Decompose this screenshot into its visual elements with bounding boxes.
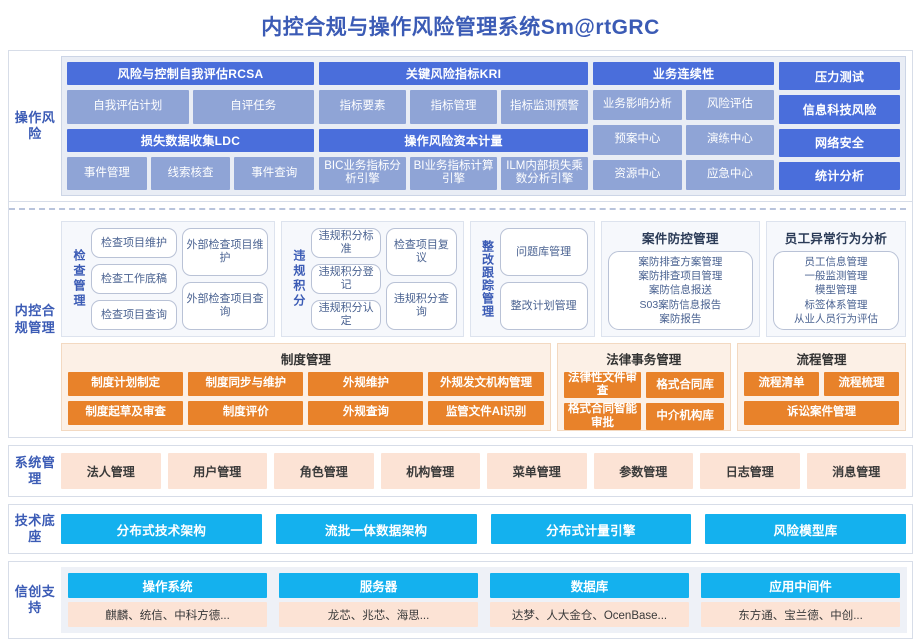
xinchuang-vendors: 达梦、人大金仓、OcenBase...: [490, 602, 689, 627]
policy-item[interactable]: 外规发文机构管理: [428, 372, 543, 396]
tech-item[interactable]: 分布式计量引擎: [491, 514, 692, 544]
process-item[interactable]: 诉讼案件管理: [744, 401, 899, 425]
system-management-row: 法人管理 用户管理 角色管理 机构管理 菜单管理 参数管理 日志管理 消息管理: [61, 451, 906, 491]
group-inspection-management: 检查管理 检查项目维护 检查工作底稿 检查项目查询 外部检查项目维护 外部检查项…: [61, 221, 275, 337]
op-column-rcsa-ldc: 风险与控制自我评估RCSA 自我评估计划 自评任务 损失数据收集LDC 事件管理…: [67, 62, 314, 190]
op-group-title-capital[interactable]: 操作风险资本计量: [319, 129, 588, 152]
op-column-business-continuity: 业务连续性 业务影响分析 风险评估 预案中心 演练中心 资源中心 应急中心: [593, 62, 774, 190]
ic-item-list[interactable]: 员工信息管理 一般监测管理 模型管理 标签体系管理 从业人员行为评估: [773, 251, 899, 330]
section-internal-control: 内控合规管理 检查管理 检查项目维护 检查工作底稿 检查项目查询 外部检查项目维…: [8, 202, 913, 438]
section-label-xinchuang: 信创支持: [9, 562, 61, 638]
op-item[interactable]: 指标管理: [410, 90, 497, 124]
ic-item: 标签体系管理: [804, 298, 867, 312]
op-group-rcsa: 风险与控制自我评估RCSA 自我评估计划 自评任务: [67, 62, 314, 124]
op-item[interactable]: 演练中心: [686, 125, 775, 155]
group-label: 整改跟踪管理: [477, 228, 500, 330]
policy-item[interactable]: 外规维护: [308, 372, 423, 396]
xinchuang-head[interactable]: 数据库: [490, 573, 689, 598]
ic-item[interactable]: 外部检查项目维护: [182, 228, 268, 276]
group-title: 法律事务管理: [564, 349, 724, 368]
tech-item[interactable]: 风险模型库: [705, 514, 906, 544]
ic-item[interactable]: 检查工作底稿: [91, 264, 177, 294]
operational-risk-grid: 风险与控制自我评估RCSA 自我评估计划 自评任务 损失数据收集LDC 事件管理…: [61, 56, 906, 196]
xinchuang-head[interactable]: 服务器: [279, 573, 478, 598]
op-item[interactable]: 风险评估: [686, 90, 775, 120]
xinchuang-column-server: 服务器 龙芯、兆芯、海思...: [279, 573, 478, 627]
xinchuang-row: 操作系统 麒麟、统信、中科方德... 服务器 龙芯、兆芯、海思... 数据库 达…: [61, 567, 907, 633]
policy-item[interactable]: 制度评价: [188, 401, 303, 425]
ic-item[interactable]: 外部检查项目查询: [182, 282, 268, 330]
op-item[interactable]: 事件查询: [234, 157, 314, 191]
system-item[interactable]: 机构管理: [381, 453, 481, 489]
op-item[interactable]: BI业务指标计算引擎: [410, 157, 497, 191]
ic-item[interactable]: 违规积分认定: [311, 300, 381, 330]
system-item[interactable]: 日志管理: [700, 453, 800, 489]
op-item[interactable]: 自我评估计划: [67, 90, 189, 124]
ic-item[interactable]: 整改计划管理: [500, 282, 588, 330]
xinchuang-column-middleware: 应用中间件 东方通、宝兰德、中创...: [701, 573, 900, 627]
op-item[interactable]: 线索核查: [151, 157, 231, 191]
page-title: 内控合规与操作风险管理系统Sm@rtGRC: [8, 0, 913, 50]
group-title: 流程管理: [744, 349, 899, 368]
group-rectification-tracking: 整改跟踪管理 问题库管理 整改计划管理: [470, 221, 595, 337]
section-label-system-management: 系统管理: [9, 446, 61, 496]
ic-item[interactable]: 检查项目复议: [386, 228, 456, 276]
section-label-operational-risk: 操作风险: [9, 51, 61, 201]
policy-item[interactable]: 监管文件AI识别: [428, 401, 543, 425]
group-staff-abnormal-behavior: 员工异常行为分析 员工信息管理 一般监测管理 模型管理 标签体系管理 从业人员行…: [766, 221, 906, 337]
xinchuang-vendors: 东方通、宝兰德、中创...: [701, 602, 900, 627]
op-group-ldc: 损失数据收集LDC 事件管理 线索核查 事件查询: [67, 129, 314, 191]
ic-item: 员工信息管理: [804, 255, 867, 269]
group-process-management: 流程管理 流程清单 流程梳理 诉讼案件管理: [737, 343, 906, 431]
op-item[interactable]: BIC业务指标分析引擎: [319, 157, 406, 191]
section-operational-risk: 操作风险 风险与控制自我评估RCSA 自我评估计划 自评任务 损失数据收集LDC: [8, 50, 913, 202]
op-item[interactable]: 自评任务: [193, 90, 315, 124]
group-violation-points: 违规积分 违规积分标准 违规积分登记 违规积分认定 检查项目复议 违规积分查询: [281, 221, 464, 337]
system-item[interactable]: 参数管理: [594, 453, 694, 489]
section-xinchuang-support: 信创支持 操作系统 麒麟、统信、中科方德... 服务器 龙芯、兆芯、海思... …: [8, 561, 913, 639]
ic-item: 模型管理: [815, 283, 857, 297]
op-group-kri: 关键风险指标KRI 指标要素 指标管理 指标监测预警: [319, 62, 588, 124]
section-tech-base: 技术底座 分布式技术架构 流批一体数据架构 分布式计量引擎 风险模型库: [8, 504, 913, 554]
process-item[interactable]: 流程清单: [744, 372, 819, 396]
group-label: 检查管理: [68, 228, 91, 330]
op-column-misc: 压力测试 信息科技风险 网络安全 统计分析: [779, 62, 900, 190]
op-item[interactable]: ILM内部损失乘数分析引擎: [501, 157, 588, 191]
tech-base-row: 分布式技术架构 流批一体数据架构 分布式计量引擎 风险模型库: [61, 510, 906, 548]
ic-item: 案防信息报送: [649, 283, 712, 297]
op-item[interactable]: 统计分析: [779, 162, 900, 190]
group-title: 员工异常行为分析: [773, 228, 899, 247]
group-label: 违规积分: [288, 228, 311, 330]
ic-item[interactable]: 违规积分登记: [311, 264, 381, 294]
group-title: 案件防控管理: [608, 228, 753, 247]
system-item[interactable]: 法人管理: [61, 453, 161, 489]
ic-item[interactable]: 检查项目查询: [91, 300, 177, 330]
tech-item[interactable]: 流批一体数据架构: [276, 514, 477, 544]
op-item[interactable]: 资源中心: [593, 160, 682, 190]
section-label-tech-base: 技术底座: [9, 505, 61, 553]
internal-control-row-2: 制度管理 制度计划制定 制度同步与维护 外规维护 外规发文机构管理 制度起草及审…: [61, 343, 906, 431]
tech-item[interactable]: 分布式技术架构: [61, 514, 262, 544]
ic-item[interactable]: 检查项目维护: [91, 228, 177, 258]
op-group-title-kri[interactable]: 关键风险指标KRI: [319, 62, 588, 85]
ic-item[interactable]: 问题库管理: [500, 228, 588, 276]
ic-item: 案防排查方案管理: [638, 255, 722, 269]
xinchuang-column-database: 数据库 达梦、人大金仓、OcenBase...: [490, 573, 689, 627]
system-item[interactable]: 用户管理: [168, 453, 268, 489]
system-item[interactable]: 角色管理: [274, 453, 374, 489]
op-group-title-business-continuity[interactable]: 业务连续性: [593, 62, 774, 85]
section-label-internal-control: 内控合规管理: [9, 202, 61, 437]
xinchuang-head[interactable]: 应用中间件: [701, 573, 900, 598]
ic-item[interactable]: 违规积分查询: [386, 282, 456, 330]
policy-item[interactable]: 制度起草及审查: [68, 401, 183, 425]
xinchuang-vendors: 龙芯、兆芯、海思...: [279, 602, 478, 627]
xinchuang-vendors: 麒麟、统信、中科方德...: [68, 602, 267, 627]
system-item[interactable]: 消息管理: [807, 453, 907, 489]
internal-control-row-1: 检查管理 检查项目维护 检查工作底稿 检查项目查询 外部检查项目维护 外部检查项…: [61, 221, 906, 337]
op-item[interactable]: 压力测试: [779, 62, 900, 90]
op-group-title-ldc[interactable]: 损失数据收集LDC: [67, 129, 314, 152]
ic-item: 案防报告: [659, 312, 701, 326]
op-item[interactable]: 指标要素: [319, 90, 406, 124]
legal-item[interactable]: 中介机构库: [646, 403, 724, 429]
legal-item[interactable]: 法律性文件审查: [564, 372, 642, 398]
op-item[interactable]: 指标监测预警: [501, 90, 588, 124]
legal-item[interactable]: 格式合同智能审批: [564, 403, 642, 429]
process-item[interactable]: 流程梳理: [824, 372, 899, 396]
section-system-management: 系统管理 法人管理 用户管理 角色管理 机构管理 菜单管理 参数管理 日志管理 …: [8, 445, 913, 497]
op-item[interactable]: 应急中心: [686, 160, 775, 190]
op-group-capital: 操作风险资本计量 BIC业务指标分析引擎 BI业务指标计算引擎 ILM内部损失乘…: [319, 129, 588, 191]
group-legal-affairs: 法律事务管理 法律性文件审查 格式合同库 格式合同智能审批 中介机构库: [557, 343, 731, 431]
ic-item: S03案防信息报告: [640, 298, 722, 312]
op-column-kri-capital: 关键风险指标KRI 指标要素 指标管理 指标监测预警 操作风险资本计量 BIC业…: [319, 62, 588, 190]
xinchuang-head[interactable]: 操作系统: [68, 573, 267, 598]
ic-item: 一般监测管理: [804, 269, 867, 283]
op-group-title-rcsa[interactable]: 风险与控制自我评估RCSA: [67, 62, 314, 85]
xinchuang-column-os: 操作系统 麒麟、统信、中科方德...: [68, 573, 267, 627]
policy-item[interactable]: 制度计划制定: [68, 372, 183, 396]
system-item[interactable]: 菜单管理: [487, 453, 587, 489]
ic-item-list[interactable]: 案防排查方案管理 案防排查项目管理 案防信息报送 S03案防信息报告 案防报告: [608, 251, 753, 330]
op-item[interactable]: 业务影响分析: [593, 90, 682, 120]
architecture-diagram-page: 内控合规与操作风险管理系统Sm@rtGRC 操作风险 风险与控制自我评估RCSA…: [0, 0, 921, 640]
policy-item[interactable]: 外规查询: [308, 401, 423, 425]
legal-item[interactable]: 格式合同库: [646, 372, 724, 398]
op-item[interactable]: 信息科技风险: [779, 95, 900, 123]
op-item[interactable]: 预案中心: [593, 125, 682, 155]
ic-item: 从业人员行为评估: [794, 312, 878, 326]
group-title: 制度管理: [68, 349, 544, 368]
op-item[interactable]: 事件管理: [67, 157, 147, 191]
group-case-prevention: 案件防控管理 案防排查方案管理 案防排查项目管理 案防信息报送 S03案防信息报…: [601, 221, 760, 337]
policy-item[interactable]: 制度同步与维护: [188, 372, 303, 396]
group-policy-management: 制度管理 制度计划制定 制度同步与维护 外规维护 外规发文机构管理 制度起草及审…: [61, 343, 551, 431]
section-divider: [9, 208, 906, 210]
ic-item: 案防排查项目管理: [638, 269, 722, 283]
op-item[interactable]: 网络安全: [779, 129, 900, 157]
ic-item[interactable]: 违规积分标准: [311, 228, 381, 258]
